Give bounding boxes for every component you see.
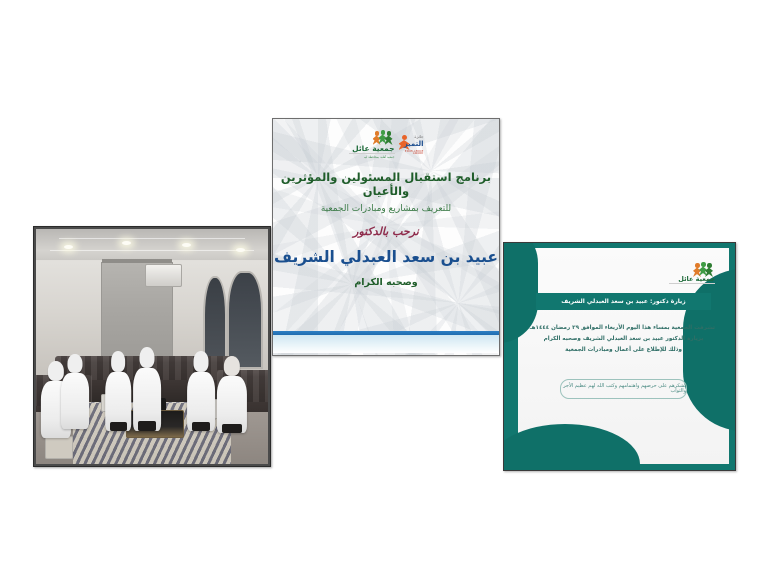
arched-window <box>203 276 228 362</box>
association-logo-icon: جمعية عائل جمعية أهلية بمحافظة ليه <box>349 131 395 159</box>
ceiling-light-icon <box>236 248 245 252</box>
logo-divider <box>349 153 395 154</box>
visit-body-line-2: بزيارة الدكتور عبيد بن سعد العبدلي الشري… <box>532 334 715 345</box>
excellence-award-icon: جائزة التميز EXCELLENCE AWARD <box>398 133 424 157</box>
person-headdress <box>111 351 125 372</box>
visit-body-text: تشرفت الجمعية بمساء هذا اليوم الأربعاء ا… <box>532 323 715 356</box>
person-headdress <box>68 354 83 374</box>
person-shoes <box>222 424 241 433</box>
poster-guest-name: عبيد بن سعد العبدلي الشريف <box>274 248 498 266</box>
person-headdress <box>224 356 240 376</box>
collage-canvas: جائزة التميز EXCELLENCE AWARD جمعية عائل… <box>0 0 768 576</box>
side-table <box>45 436 73 459</box>
excellence-main-word: التميز <box>404 141 424 148</box>
person-thobe <box>62 373 90 429</box>
person-figure <box>106 351 132 431</box>
person-shoes <box>138 421 156 431</box>
poster-title: برنامج استقبال المسئولين والمؤثرين والأع… <box>280 170 492 199</box>
ceiling-trim <box>59 238 245 239</box>
visit-banner-text: زيارة دكتور: عبيد بن سعد العبدلي الشريف <box>561 299 685 305</box>
ceiling-trim <box>50 250 254 251</box>
welcome-poster-card[interactable]: جائزة التميز EXCELLENCE AWARD جمعية عائل… <box>272 118 500 356</box>
person-figure <box>133 347 161 432</box>
poster-subtitle: للتعريف بمشاريع ومبادرات الجمعية <box>286 204 486 216</box>
person-figure <box>62 354 90 429</box>
visit-announcement-card[interactable]: جمعية عائل زيارة دكتور: عبيد بن سعد العب… <box>503 242 736 471</box>
visit-body-line-3: وذلك للإطلاع على أعمال ومبادرات الجمعية <box>532 345 715 356</box>
association-name: جمعية عائل <box>349 145 395 153</box>
association-name: جمعية عائل <box>669 276 715 283</box>
room-ceiling <box>36 229 268 260</box>
majlis-reception-photo <box>36 229 268 464</box>
poster-footer-band <box>273 335 499 353</box>
poster-logo-row: جائزة التميز EXCELLENCE AWARD جمعية عائل… <box>349 130 424 160</box>
thanks-pill-text: نشكرهم على حرصهم واهتمامهم وكتب الله لهم… <box>561 384 686 394</box>
visit-body-line-1: تشرفت الجمعية بمساء هذا اليوم الأربعاء ا… <box>532 323 715 334</box>
person-glyph-green-dark <box>385 131 393 145</box>
majlis-photo-card[interactable] <box>33 226 271 467</box>
association-logo-icon: جمعية عائل <box>671 263 715 289</box>
association-subtitle: جمعية أهلية بمحافظة ليه <box>349 156 395 159</box>
person-figure <box>187 351 215 431</box>
excellence-bottom-word: EXCELLENCE AWARD <box>398 151 424 156</box>
person-headdress <box>193 351 208 372</box>
person-shoes <box>110 422 126 432</box>
person-shoes <box>192 422 210 432</box>
visit-banner: زيارة دكتور: عبيد بن سعد العبدلي الشريف <box>536 293 711 310</box>
air-conditioner <box>145 264 182 287</box>
ceiling-light-icon <box>122 241 131 245</box>
person-headdress <box>140 347 155 369</box>
logo-divider <box>669 283 715 284</box>
poster-welcome-line: نرحب بالدكتور <box>353 225 419 238</box>
poster-companions: وصحبه الكرام <box>354 277 417 288</box>
excellence-top-word: جائزة <box>414 135 423 139</box>
arched-window <box>227 271 263 369</box>
thanks-pill: نشكرهم على حرصهم واهتمامهم وكتب الله لهم… <box>560 379 687 399</box>
person-figure <box>217 356 247 434</box>
